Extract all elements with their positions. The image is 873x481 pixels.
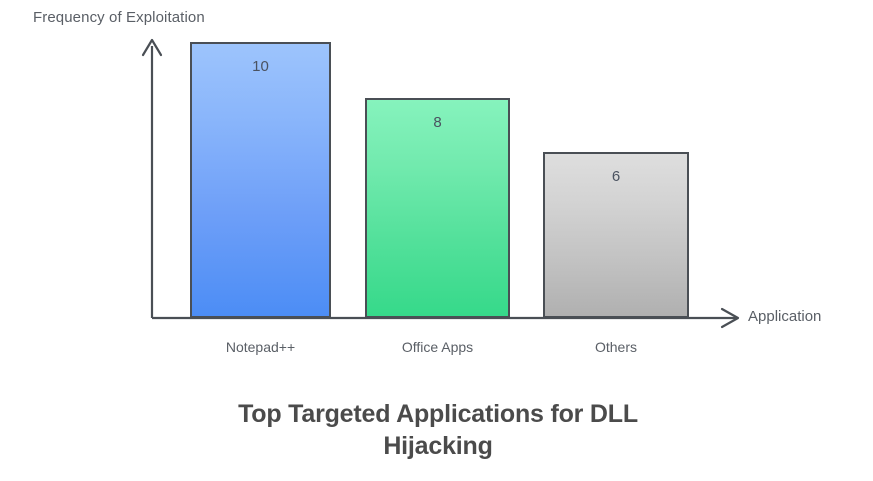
chart-title-line-2: Hijacking (383, 432, 492, 460)
x-tick-label-others: Others (543, 339, 689, 355)
bar-notepad[interactable]: 10 (190, 42, 331, 318)
bar-chart-figure: Frequency of Exploitation 10 8 6 (0, 0, 873, 481)
bar-office-apps[interactable]: 8 (365, 98, 510, 318)
x-tick-label-notepad: Notepad++ (190, 339, 331, 355)
x-tick-label-office-apps: Office Apps (365, 339, 510, 355)
chart-title: Top Targeted Applications for DLL Hijack… (134, 398, 742, 462)
bar-value-office-apps: 8 (367, 114, 508, 131)
chart-title-line-1: Top Targeted Applications for DLL (238, 400, 638, 428)
bar-others[interactable]: 6 (543, 152, 689, 318)
bar-value-notepad: 10 (192, 58, 329, 75)
x-axis-title: Application (748, 308, 821, 325)
bars-layer: 10 8 6 (0, 0, 873, 380)
bar-value-others: 6 (545, 168, 687, 185)
plot-area: 10 8 6 Notepad++ Office Apps Others Appl… (0, 0, 873, 380)
